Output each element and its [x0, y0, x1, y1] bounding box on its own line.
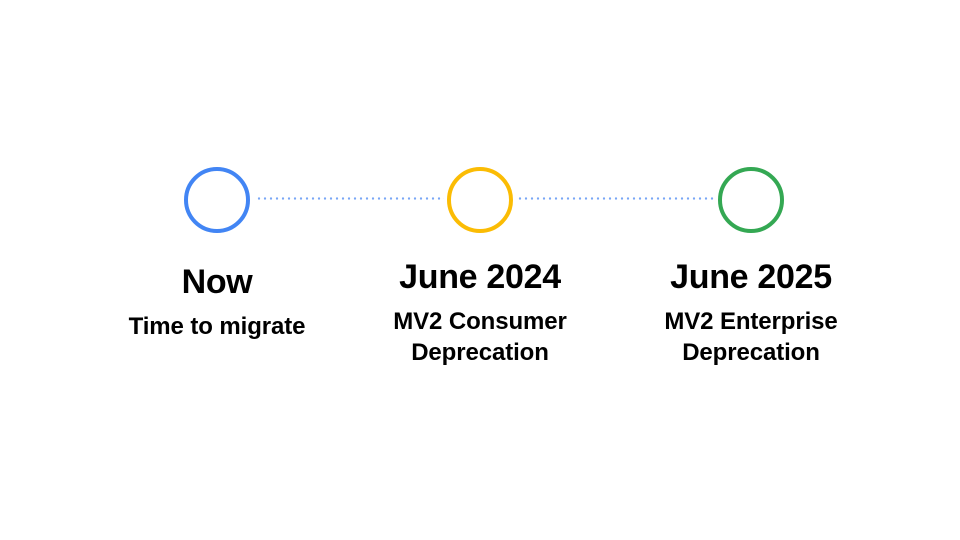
milestone-marker-wrap-now: [77, 166, 357, 234]
circle-marker-icon-june-2025: [718, 167, 784, 233]
milestone-title-june-2025: June 2025: [611, 257, 891, 297]
milestone-title-now: Now: [77, 262, 357, 302]
milestone-description-now: Time to migrate: [77, 311, 357, 342]
timeline-diagram: Now Time to migrate June 2024 MV2 Consum…: [0, 0, 960, 540]
circle-marker-icon-june-2024: [447, 167, 513, 233]
circle-marker-icon-now: [184, 167, 250, 233]
milestone-description-june-2024: MV2 Consumer Deprecation: [340, 306, 620, 368]
milestone-labels-now: Now Time to migrate: [77, 262, 357, 342]
milestone-marker-wrap-june-2025: [611, 166, 891, 234]
milestone-marker-wrap-june-2024: [340, 166, 620, 234]
timeline-milestone-june-2024: June 2024 MV2 Consumer Deprecation: [340, 0, 620, 540]
milestone-labels-june-2024: June 2024 MV2 Consumer Deprecation: [340, 257, 620, 368]
timeline-milestone-now: Now Time to migrate: [77, 0, 357, 540]
milestone-description-june-2025: MV2 Enterprise Deprecation: [611, 306, 891, 368]
milestone-labels-june-2025: June 2025 MV2 Enterprise Deprecation: [611, 257, 891, 368]
milestone-title-june-2024: June 2024: [340, 257, 620, 297]
timeline-milestone-june-2025: June 2025 MV2 Enterprise Deprecation: [611, 0, 891, 540]
